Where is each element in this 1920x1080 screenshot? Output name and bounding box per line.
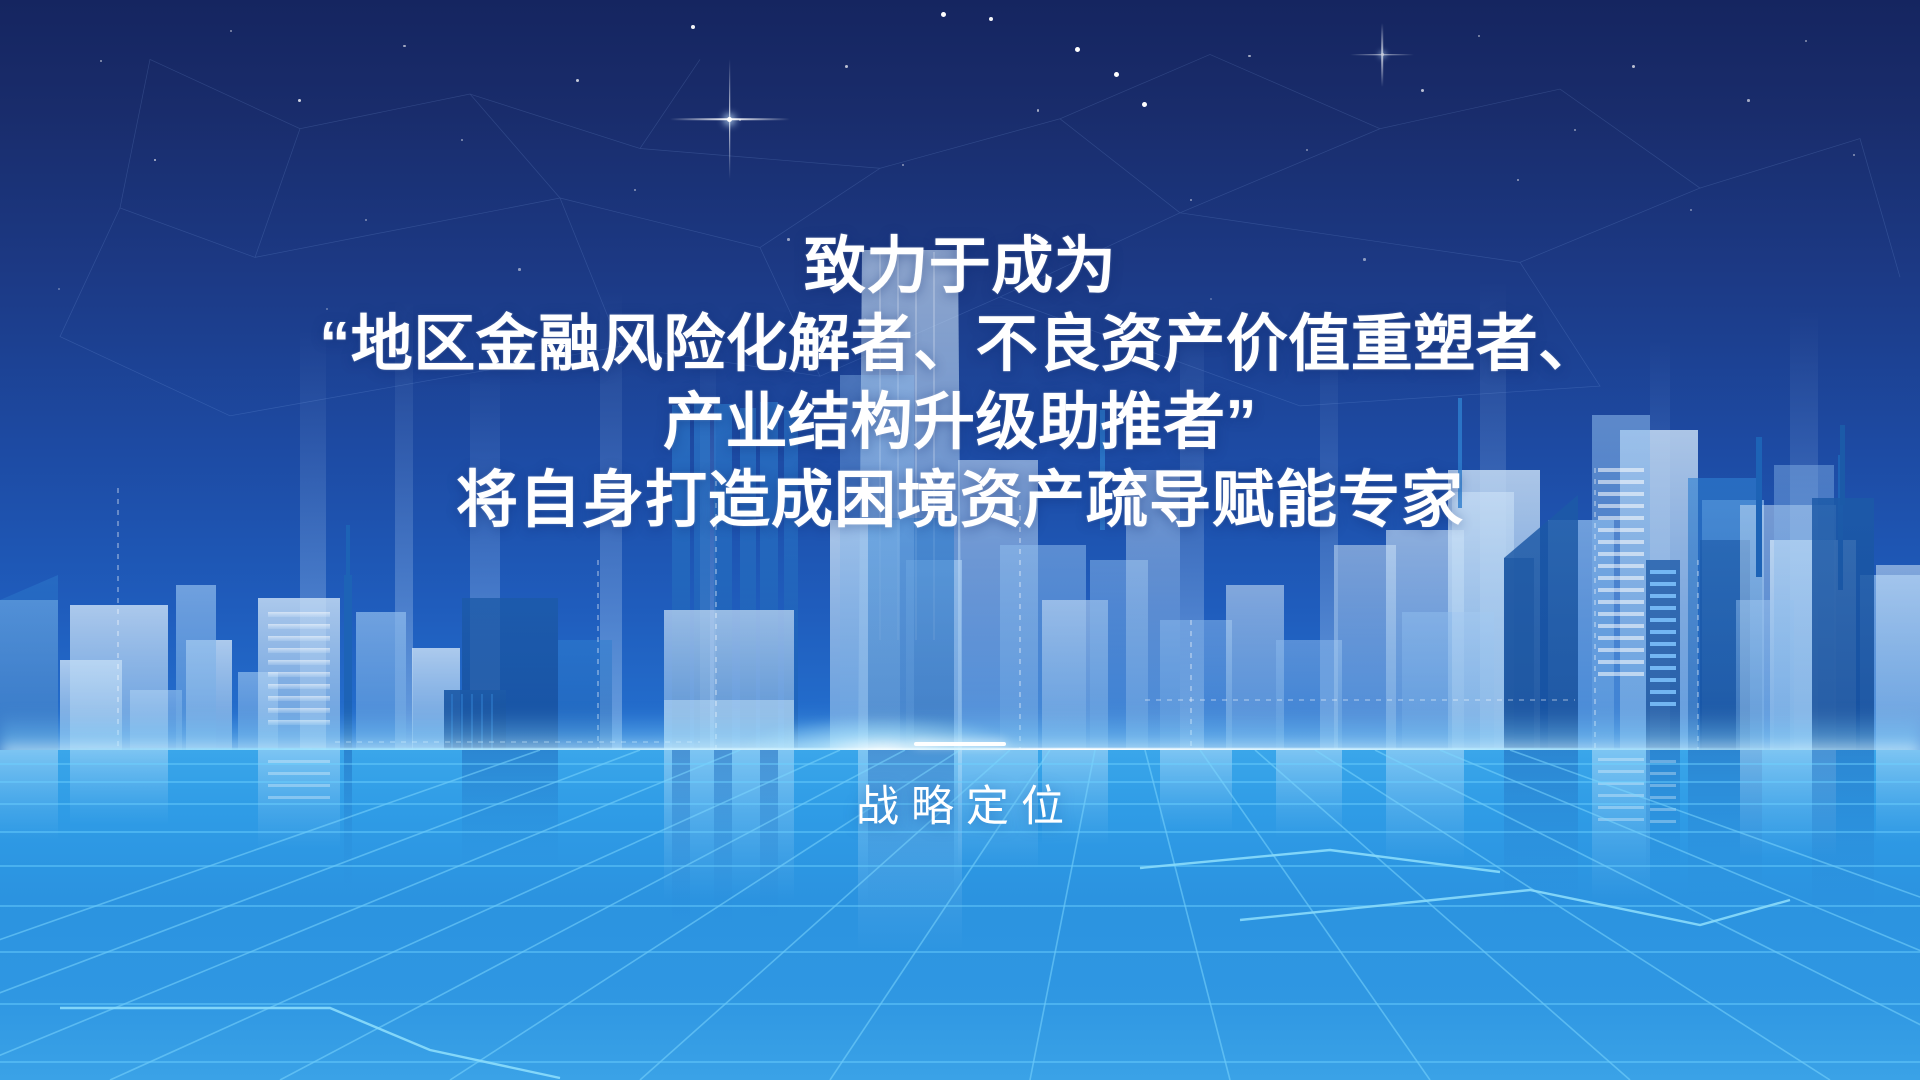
headline-block: 致力于成为 “地区金融风险化解者、不良资产价值重塑者、 产业结构升级助推者” 将… bbox=[0, 228, 1920, 540]
headline-line-1: 致力于成为 bbox=[0, 228, 1920, 306]
headline-line-3: 产业结构升级助推者” bbox=[0, 384, 1920, 462]
slide-canvas: 致力于成为 “地区金融风险化解者、不良资产价值重塑者、 产业结构升级助推者” 将… bbox=[0, 0, 1920, 1080]
headline-line-2: “地区金融风险化解者、不良资产价值重塑者、 bbox=[0, 306, 1920, 384]
headline-line-4: 将自身打造成困境资产疏导赋能专家 bbox=[0, 462, 1920, 540]
short-rule-icon bbox=[914, 742, 1006, 746]
slide-subtitle: 战略定位 bbox=[0, 776, 1920, 838]
